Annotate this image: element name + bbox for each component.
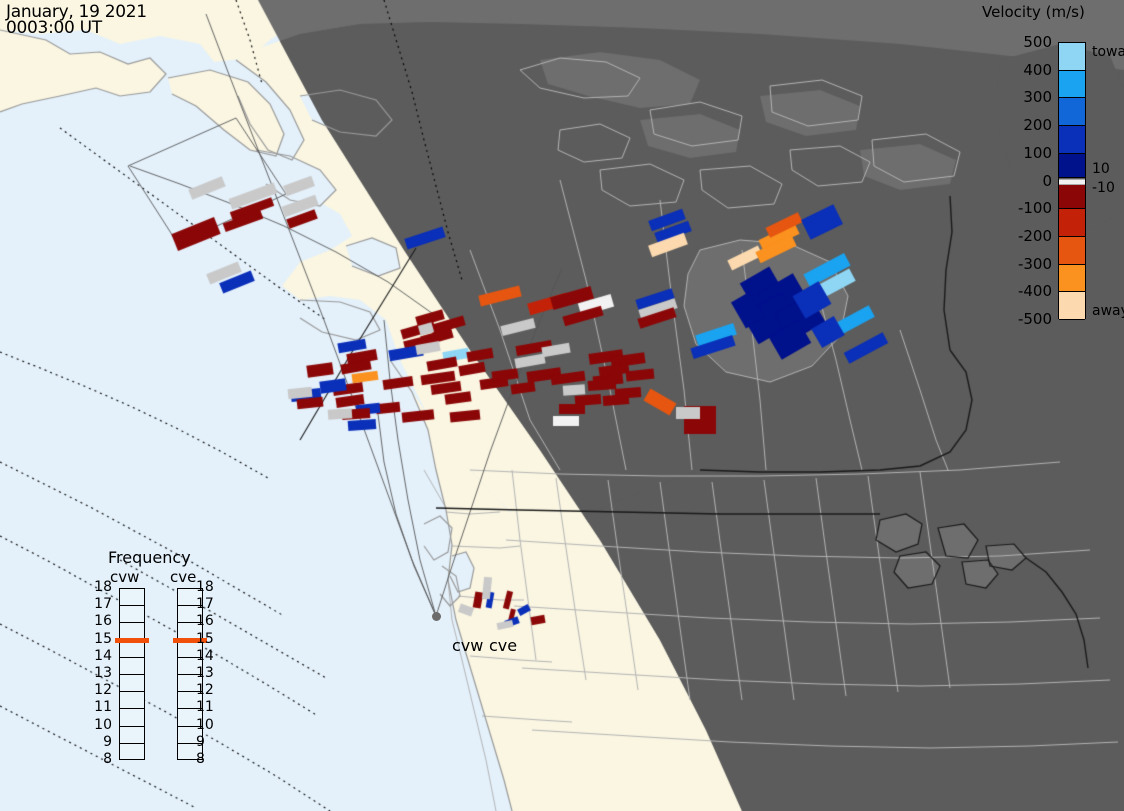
frequency-scale-segment bbox=[120, 606, 144, 623]
colorbar-away-label: away bbox=[1092, 303, 1124, 319]
time-label: 0003:00 UT bbox=[6, 18, 102, 38]
frequency-scale-label: 12 bbox=[196, 682, 222, 698]
frequency-scale-segment bbox=[120, 727, 144, 744]
radar-data-canvas bbox=[0, 0, 1124, 811]
frequency-scale-label: 9 bbox=[86, 734, 112, 750]
velocity-colorbar bbox=[1058, 42, 1086, 319]
frequency-marker bbox=[115, 638, 149, 643]
radar-site-label-cve: cve bbox=[489, 636, 517, 655]
colorbar-band bbox=[1059, 292, 1085, 320]
frequency-scale-label: 9 bbox=[196, 734, 222, 750]
colorbar-tick-label: 400 bbox=[1008, 61, 1052, 79]
frequency-column-header: cve bbox=[170, 568, 196, 586]
colorbar-band bbox=[1059, 154, 1085, 179]
colorbar-band bbox=[1059, 126, 1085, 154]
frequency-scale-label: 14 bbox=[86, 648, 112, 664]
colorbar-tick-label: 100 bbox=[1008, 144, 1052, 162]
frequency-scale-segment bbox=[120, 692, 144, 709]
colorbar-tick-label: -400 bbox=[1008, 282, 1052, 300]
frequency-scale-label: 11 bbox=[86, 699, 112, 715]
colorbar-band bbox=[1059, 265, 1085, 293]
radar-site-label-cvw: cvw bbox=[452, 636, 483, 655]
frequency-scale-segment bbox=[120, 589, 144, 606]
frequency-scale-label: 10 bbox=[196, 717, 222, 733]
colorbar-band bbox=[1059, 185, 1085, 210]
frequency-scale-segment bbox=[120, 658, 144, 675]
colorbar-tick-label: -100 bbox=[1008, 199, 1052, 217]
radar-site-marker bbox=[432, 612, 441, 621]
frequency-scale-segment bbox=[120, 744, 144, 761]
frequency-column-header: cvw bbox=[110, 568, 139, 586]
frequency-scale-label: 8 bbox=[86, 751, 112, 767]
frequency-scale-bar bbox=[119, 588, 145, 760]
frequency-scale-segment bbox=[120, 709, 144, 726]
colorbar-tick-label: 300 bbox=[1008, 88, 1052, 106]
frequency-scale-segment bbox=[120, 675, 144, 692]
colorbar-center-low-label: -10 bbox=[1092, 180, 1115, 196]
colorbar-band bbox=[1059, 237, 1085, 265]
colorbar-tick-label: 0 bbox=[1008, 172, 1052, 190]
colorbar-tick-label: -200 bbox=[1008, 227, 1052, 245]
frequency-scale-label: 12 bbox=[86, 682, 112, 698]
frequency-scale-label: 15 bbox=[196, 631, 222, 647]
colorbar-band bbox=[1059, 98, 1085, 126]
colorbar-tick-label: -300 bbox=[1008, 255, 1052, 273]
frequency-legend-title: Frequency bbox=[108, 548, 191, 567]
frequency-scale-label: 13 bbox=[86, 665, 112, 681]
colorbar-tick-label: 200 bbox=[1008, 116, 1052, 134]
frequency-scale-label: 13 bbox=[196, 665, 222, 681]
frequency-scale-label: 18 bbox=[86, 579, 112, 595]
colorbar-center-high-label: 10 bbox=[1092, 161, 1110, 177]
colorbar-band bbox=[1059, 43, 1085, 71]
colorbar-band bbox=[1059, 71, 1085, 99]
radar-map-visualization: January, 19 2021 0003:00 UT Velocity (m/… bbox=[0, 0, 1124, 811]
frequency-scale-segment bbox=[120, 641, 144, 658]
colorbar-tick-label: -500 bbox=[1008, 310, 1052, 328]
frequency-scale-label: 16 bbox=[86, 613, 112, 629]
frequency-scale-label: 16 bbox=[196, 613, 222, 629]
colorbar-toward-label: toward bbox=[1092, 44, 1124, 60]
colorbar-tick-label: 500 bbox=[1008, 33, 1052, 51]
frequency-scale-label: 11 bbox=[196, 699, 222, 715]
frequency-scale-label: 10 bbox=[86, 717, 112, 733]
frequency-scale-label: 17 bbox=[196, 596, 222, 612]
frequency-scale-label: 14 bbox=[196, 648, 222, 664]
colorbar-band bbox=[1059, 209, 1085, 237]
frequency-scale-label: 8 bbox=[196, 751, 222, 767]
colorbar-title: Velocity (m/s) bbox=[982, 3, 1085, 21]
frequency-scale-label: 17 bbox=[86, 596, 112, 612]
frequency-scale-label: 18 bbox=[196, 579, 222, 595]
frequency-scale-label: 15 bbox=[86, 631, 112, 647]
